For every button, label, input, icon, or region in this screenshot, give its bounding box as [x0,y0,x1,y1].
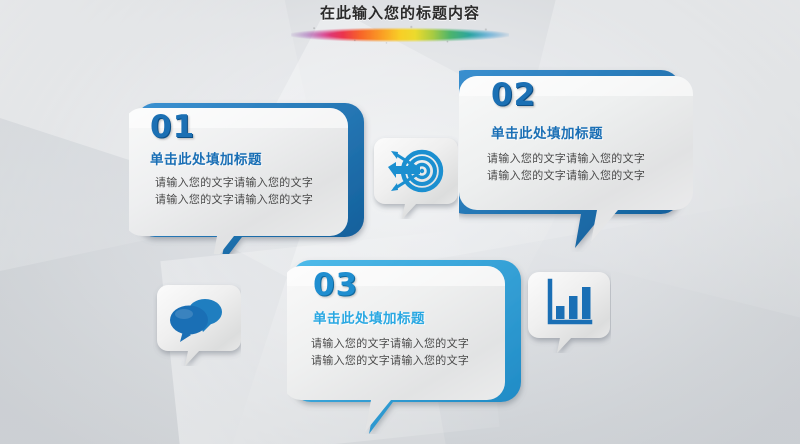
barchart-bubble-shape [525,269,611,353]
icon-bubble-target[interactable] [373,138,445,200]
card-02-content: 02 单击此处填加标题 请输入您的文字请输入您的文字 请输入您的文字请输入您的文… [469,70,682,212]
card-03-line1: 请输入您的文字请输入您的文字 [311,335,469,352]
card-03-number: 03 [313,270,358,301]
card-03-line2: 请输入您的文字请输入您的文字 [311,352,469,369]
chat-bubble-shape [153,282,241,366]
title-block: 在此输入您的标题内容 [0,2,800,43]
card-01-content: 01 单击此处填加标题 请输入您的文字请输入您的文字 请输入您的文字请输入您的文… [133,104,339,226]
card-02-line1: 请输入您的文字请输入您的文字 [487,150,645,167]
card-01-line1: 请输入您的文字请输入您的文字 [155,174,313,191]
card-01-line2: 请输入您的文字请输入您的文字 [155,191,313,208]
card-03-content: 03 单击此处填加标题 请输入您的文字请输入您的文字 请输入您的文字请输入您的文… [293,262,504,392]
speech-card-01[interactable]: 01 单击此处填加标题 请输入您的文字请输入您的文字 请输入您的文字请输入您的文… [133,104,339,226]
icon-bubble-chat[interactable] [156,285,228,347]
page-title: 在此输入您的标题内容 [0,2,800,24]
card-02-line2: 请输入您的文字请输入您的文字 [487,167,645,184]
card-02-heading: 单击此处填加标题 [491,125,603,143]
card-02-number: 02 [491,80,536,111]
card-01-number: 01 [150,112,195,143]
card-03-heading: 单击此处填加标题 [313,310,425,328]
speech-card-02[interactable]: 02 单击此处填加标题 请输入您的文字请输入您的文字 请输入您的文字请输入您的文… [469,70,682,212]
target-bubble-body [374,138,458,219]
icon-bubble-barchart[interactable] [528,272,598,334]
speech-card-03[interactable]: 03 单击此处填加标题 请输入您的文字请输入您的文字 请输入您的文字请输入您的文… [293,262,504,392]
slide-canvas: 在此输入您的标题内容 [0,0,800,444]
card-01-heading: 单击此处填加标题 [150,151,262,169]
target-bubble-shape [370,135,458,219]
rainbow-speckles [287,24,513,45]
rainbow-paint-stroke-icon [291,26,509,43]
